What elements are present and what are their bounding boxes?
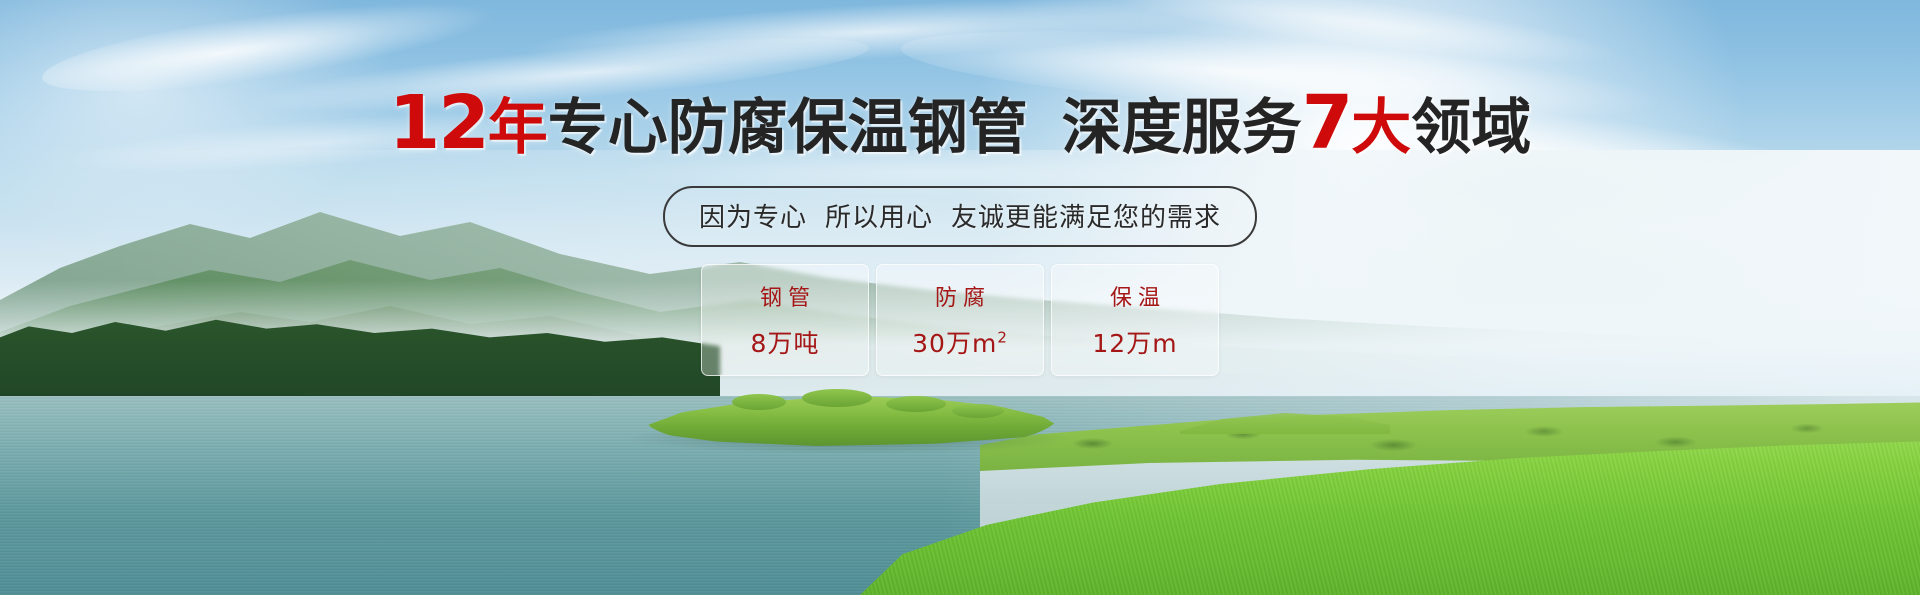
headline-text-secondary: 深度服务 [1062, 93, 1302, 163]
headline-number-fields-unit: 大 [1351, 93, 1411, 163]
island-tuft [886, 396, 946, 412]
subtitle-pill: 因为专心所以用心友诚更能满足您的需求 [663, 186, 1257, 247]
headline-text-tertiary: 领域 [1411, 93, 1531, 163]
grass-island [640, 380, 1060, 450]
stat-label: 防腐 [929, 280, 991, 312]
stat-value: 8万吨 [751, 324, 820, 360]
subtitle-part-3: 友诚更能满足您的需求 [951, 203, 1221, 233]
island-tuft [802, 389, 872, 407]
stat-card-steel-pipe: 钢管 8万吨 [701, 264, 869, 376]
island-tuft [952, 404, 1004, 418]
stat-value: 30万m2 [912, 324, 1008, 360]
headline-number-years-unit: 年 [488, 93, 548, 163]
headline: 12年专心防腐保温钢管深度服务7大领域 [0, 86, 1920, 160]
stat-value: 12万m [1092, 324, 1177, 360]
stat-value-text: 30万m [912, 329, 997, 358]
stat-value-text: 12万m [1092, 329, 1177, 358]
stat-label: 钢管 [754, 280, 816, 312]
stat-card-anticorrosion: 防腐 30万m2 [876, 264, 1044, 376]
stat-value-superscript: 2 [997, 329, 1008, 347]
stat-label: 保温 [1104, 280, 1166, 312]
stat-card-insulation: 保温 12万m [1051, 264, 1219, 376]
subtitle-part-2: 所以用心 [825, 203, 933, 233]
banner-content: 12年专心防腐保温钢管深度服务7大领域 因为专心所以用心友诚更能满足您的需求 [0, 0, 1920, 247]
subtitle-part-1: 因为专心 [699, 203, 807, 233]
headline-number-fields: 7 [1302, 80, 1352, 166]
headline-text-primary: 专心防腐保温钢管 [548, 93, 1028, 163]
hero-banner: 12年专心防腐保温钢管深度服务7大领域 因为专心所以用心友诚更能满足您的需求 钢… [0, 0, 1920, 595]
island-tuft [732, 394, 786, 410]
stat-card-group: 钢管 8万吨 防腐 30万m2 保温 12万m [0, 264, 1920, 376]
headline-number-years: 12 [389, 80, 488, 166]
stat-value-text: 8万吨 [751, 329, 820, 358]
